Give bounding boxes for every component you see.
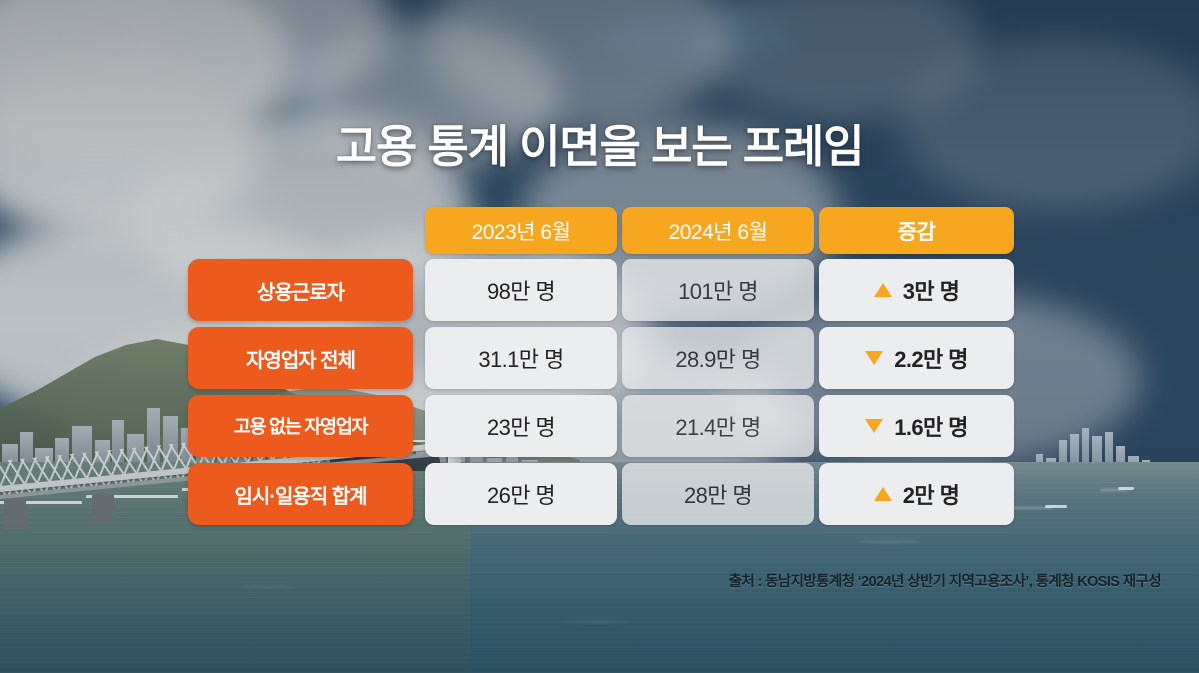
row-label-temporary-daily-total: 임시·일용직 합계 (188, 463, 413, 525)
triangle-down-icon (865, 419, 883, 433)
cell-2023-self-employed-no-employees: 23만 명 (425, 395, 617, 457)
change-value: 2.2만 명 (894, 342, 968, 374)
cell-change-regular-workers: 3만 명 (819, 259, 1014, 321)
change-value: 3만 명 (903, 274, 959, 306)
change-value: 2만 명 (903, 478, 959, 510)
table-row: 상용근로자 98만 명 101만 명 3만 명 (188, 259, 1014, 321)
cell-change-temporary-daily-total: 2만 명 (819, 463, 1014, 525)
slide-canvas: 고용 통계 이면을 보는 프레임 2023년 6월 2024년 6월 증감 상용… (0, 0, 1199, 673)
cell-change-self-employed-no-employees: 1.6만 명 (819, 395, 1014, 457)
column-header-2024: 2024년 6월 (622, 207, 814, 254)
triangle-up-icon (874, 487, 892, 501)
row-label-self-employed-total: 자영업자 전체 (188, 327, 413, 389)
page-title: 고용 통계 이면을 보는 프레임 (0, 110, 1199, 175)
column-header-change: 증감 (819, 207, 1014, 254)
source-note: 출처 : 동남지방통계청 ‘2024년 상반기 지역고용조사’, 통계청 KOS… (729, 570, 1161, 591)
row-label-self-employed-no-employees: 고용 없는 자영업자 (188, 395, 413, 457)
cell-2024-self-employed-no-employees: 21.4만 명 (622, 395, 814, 457)
table-row: 자영업자 전체 31.1만 명 28.9만 명 2.2만 명 (188, 327, 1014, 389)
triangle-down-icon (865, 351, 883, 365)
cell-2023-self-employed-total: 31.1만 명 (425, 327, 617, 389)
cell-2024-regular-workers: 101만 명 (622, 259, 814, 321)
row-label-regular-workers: 상용근로자 (188, 259, 413, 321)
cell-2024-temporary-daily-total: 28만 명 (622, 463, 814, 525)
employment-statistics-table: 2023년 6월 2024년 6월 증감 상용근로자 98만 명 101만 명 … (188, 207, 1014, 534)
cell-2023-regular-workers: 98만 명 (425, 259, 617, 321)
table-row: 임시·일용직 합계 26만 명 28만 명 2만 명 (188, 463, 1014, 525)
triangle-up-icon (874, 283, 892, 297)
change-value: 1.6만 명 (894, 410, 968, 442)
table-header-row: 2023년 6월 2024년 6월 증감 (188, 207, 1014, 254)
column-header-2023: 2023년 6월 (425, 207, 617, 254)
cell-change-self-employed-total: 2.2만 명 (819, 327, 1014, 389)
table-row: 고용 없는 자영업자 23만 명 21.4만 명 1.6만 명 (188, 395, 1014, 457)
cell-2023-temporary-daily-total: 26만 명 (425, 463, 617, 525)
cell-2024-self-employed-total: 28.9만 명 (622, 327, 814, 389)
